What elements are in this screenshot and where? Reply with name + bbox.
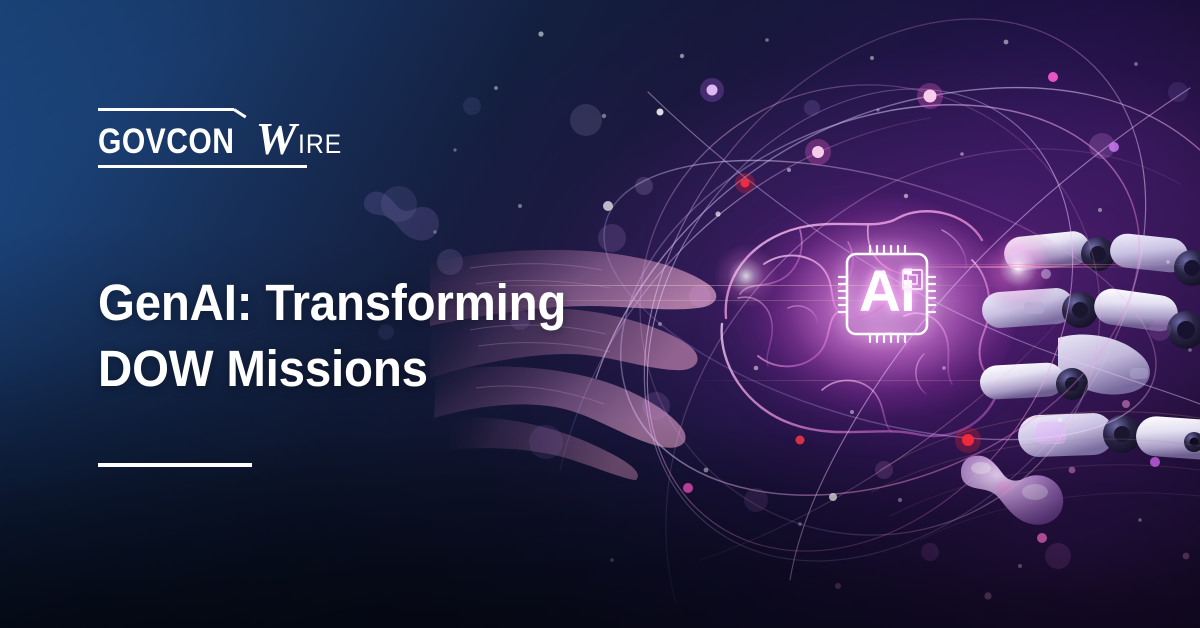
page-title-line-2: DOW Missions (98, 336, 498, 402)
logo-text-ire: IRE (298, 131, 342, 158)
logo-text-govcon: GOVCON (98, 124, 234, 159)
title-divider (98, 463, 252, 467)
logo-text-w: W (256, 116, 297, 162)
content-block: GOVCON W IRE GenAI: Transforming DOW Mis… (98, 0, 618, 628)
logo-wordmark: GOVCON W IRE (98, 115, 307, 161)
logo-rule-bottom (98, 165, 307, 168)
page-title: GenAI: Transforming DOW Missions (98, 270, 498, 403)
logo-rule-top (98, 108, 234, 111)
banner: Ai (0, 0, 1200, 628)
govconwire-logo[interactable]: GOVCON W IRE (98, 108, 307, 168)
page-title-line-1: GenAI: Transforming (98, 270, 498, 336)
